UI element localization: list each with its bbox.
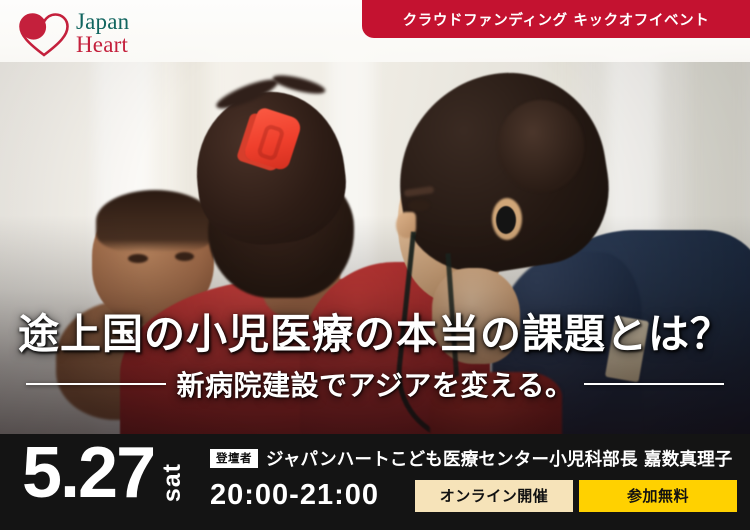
logo-text-japan: Japan	[76, 11, 129, 34]
speaker-row: 登壇者 ジャパンハートこども医療センター小児科部長 嘉数真理子	[210, 446, 742, 471]
campaign-ribbon: クラウドファンディング キックオフイベント	[362, 0, 750, 38]
rule-right	[584, 383, 724, 385]
tag-free-admission[interactable]: 参加無料	[579, 480, 737, 512]
rule-left	[26, 383, 166, 385]
campaign-ribbon-label: クラウドファンディング キックオフイベント	[403, 9, 710, 30]
subtitle-row: 新病院建設でアジアを変える。	[0, 364, 750, 404]
logo-wordmark: Japan Heart	[76, 11, 129, 56]
event-tags: オンライン開催 参加無料	[415, 480, 737, 512]
page-subtitle: 新病院建設でアジアを変える。	[176, 364, 573, 404]
event-date-block: 5.27 sat	[22, 440, 187, 506]
speaker-label-badge: 登壇者	[210, 449, 258, 468]
event-info-bar: 5.27 sat 登壇者 ジャパンハートこども医療センター小児科部長 嘉数真理子…	[0, 434, 750, 530]
speaker-name: ジャパンハートこども医療センター小児科部長 嘉数真理子	[266, 446, 733, 471]
event-details-column: 登壇者 ジャパンハートこども医療センター小児科部長 嘉数真理子 20:00-21…	[210, 446, 742, 512]
time-and-tags-row: 20:00-21:00 オンライン開催 参加無料	[210, 479, 742, 512]
event-date-number: 5.27	[22, 440, 154, 506]
heart-logo-icon	[18, 12, 70, 58]
japan-heart-logo[interactable]: Japan Heart	[18, 9, 188, 61]
event-day-of-week: sat	[158, 463, 187, 502]
tag-online-event[interactable]: オンライン開催	[415, 480, 573, 512]
event-poster: Japan Heart クラウドファンディング キックオフイベント 途上国の小児…	[0, 0, 750, 530]
page-title: 途上国の小児医療の本当の課題とは？	[0, 300, 750, 360]
event-time: 20:00-21:00	[210, 479, 379, 512]
logo-text-heart: Heart	[76, 34, 129, 57]
